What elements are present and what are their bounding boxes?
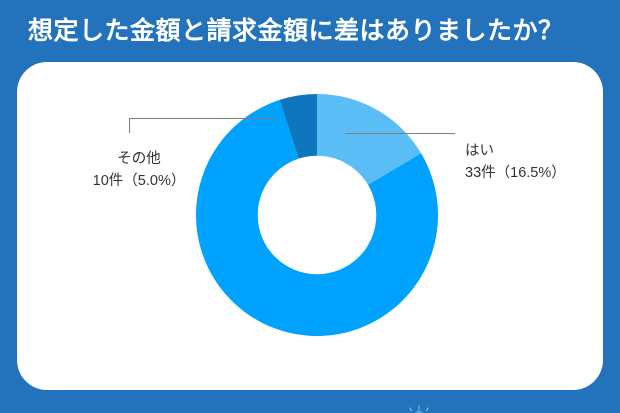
donut-hole xyxy=(258,156,377,275)
house-mascot-icon xyxy=(395,404,443,413)
leader-line-yes-horizontal xyxy=(345,133,455,134)
callout-yes-value: 33件（16.5%） xyxy=(465,162,566,184)
brand-logo[interactable]: カギ お助け 本舗 xyxy=(395,402,595,413)
callout-no-name: いいえ xyxy=(217,337,417,360)
infographic-root: 想定した金額と請求金額に差はありましたか？ その他 10件（5.0%） はい 3… xyxy=(0,0,620,413)
chart-card: その他 10件（5.0%） はい 33件（16.5%） いいえ 157件（78.… xyxy=(17,62,603,390)
callout-other-value: 10件（5.0%） xyxy=(69,170,209,192)
callout-other-name: その他 xyxy=(69,148,209,170)
page-title: 想定した金額と請求金額に差はありましたか？ xyxy=(28,14,598,48)
leader-line-other-vertical xyxy=(129,118,130,133)
callout-no-value: 157件（78.5%） xyxy=(217,360,417,383)
callout-no: いいえ 157件（78.5%） xyxy=(217,337,417,383)
callout-yes-name: はい xyxy=(465,140,566,162)
callout-other: その他 10件（5.0%） xyxy=(69,148,209,192)
leader-line-other-horizontal xyxy=(129,118,277,119)
callout-yes: はい 33件（16.5%） xyxy=(465,140,566,184)
